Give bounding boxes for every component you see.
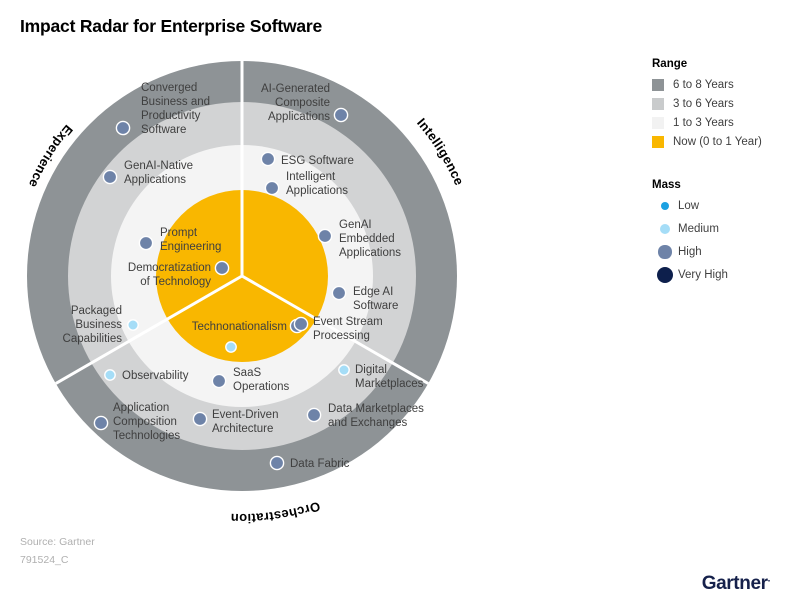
legend-mass-item: Medium: [652, 221, 788, 237]
legend-range-swatch: [652, 136, 664, 148]
node-label-line: Embedded: [339, 233, 395, 245]
source-note: Source: Gartner 791524_C: [20, 533, 95, 569]
legend-range-label: Now (0 to 1 Year): [673, 136, 762, 148]
legend-range-label: 3 to 6 Years: [673, 98, 734, 110]
legend-mass-dot: [657, 267, 674, 284]
node-label-line: Applications: [124, 174, 186, 186]
sector-label-orchestration: Orchestration: [230, 499, 322, 526]
node-label-line: Observability: [122, 370, 189, 382]
legend-mass-label: Low: [678, 200, 699, 212]
legend-mass-item: Very High: [652, 267, 788, 283]
gartner-wordmark: Gartner: [702, 573, 768, 594]
radar-node-dot[interactable]: Edge AI Software: [332, 286, 345, 299]
node-label-line: Prompt: [160, 227, 198, 239]
legend-mass-dot: [660, 224, 670, 234]
radar-node-dot[interactable]: Event-Driven Architecture: [193, 412, 206, 425]
radar-node-dot[interactable]: Observability: [105, 370, 115, 380]
legend-mass-title: Mass: [652, 179, 788, 191]
node-label: Technonationalism: [192, 321, 287, 333]
node-label-line: Applications: [268, 111, 330, 123]
legend-mass-dot-cell: [652, 224, 678, 234]
legend: Range 6 to 8 Years3 to 6 Years1 to 3 Yea…: [652, 58, 788, 290]
legend-mass-item: High: [652, 244, 788, 260]
node-label-line: Data Marketplaces: [328, 403, 424, 415]
legend-range-block: Range 6 to 8 Years3 to 6 Years1 to 3 Yea…: [652, 58, 788, 149]
radar-node-dot[interactable]: GenAI Embedded Applications: [318, 229, 331, 242]
legend-mass-dot: [661, 202, 669, 210]
legend-mass-label: High: [678, 246, 702, 258]
node-label: Observability: [122, 370, 189, 382]
legend-range-title: Range: [652, 58, 788, 70]
impact-radar-chart: ExperienceIntelligenceOrchestration Conv…: [0, 0, 620, 540]
legend-range-swatch: [652, 117, 664, 129]
sector-label-text: Orchestration: [230, 499, 322, 526]
node-label-line: Technologies: [113, 430, 180, 442]
radar-node-dot[interactable]: Intelligent Applications: [265, 181, 278, 194]
node-label-line: Composite: [275, 97, 330, 109]
node-label-line: Data Fabric: [290, 458, 350, 470]
radar-node-dot[interactable]: Democratization of Technology: [215, 261, 228, 274]
legend-range-swatch: [652, 79, 664, 91]
node-label-line: Event Stream: [313, 316, 383, 328]
radar-node-dot[interactable]: Data Marketplaces and Exchanges: [307, 408, 320, 421]
legend-range-item: Now (0 to 1 Year): [652, 134, 788, 149]
legend-mass-dot-cell: [652, 267, 678, 284]
node-label-line: GenAI-Native: [124, 160, 193, 172]
node-label-line: of Technology: [140, 276, 211, 288]
node-label: Data Fabric: [290, 458, 350, 470]
radar-node-dot[interactable]: SaaS Operations: [212, 374, 225, 387]
node-label-line: Digital: [355, 364, 387, 376]
radar-node-dot[interactable]: Data Fabric: [270, 456, 283, 469]
node-label-line: Architecture: [212, 423, 273, 435]
legend-range-item: 6 to 8 Years: [652, 77, 788, 92]
node-label-line: ESG Software: [281, 155, 354, 167]
legend-range-swatch: [652, 98, 664, 110]
node-label-line: Converged: [141, 82, 197, 94]
legend-range-item: 3 to 6 Years: [652, 96, 788, 111]
radar-node-dot[interactable]: ESG Software: [261, 152, 274, 165]
radar-node-dot[interactable]: Packaged Business Capabilities: [128, 320, 138, 330]
radar-node-dot[interactable]: GenAI-Native Applications: [103, 170, 116, 183]
legend-range-label: 6 to 8 Years: [673, 79, 734, 91]
node-label-line: GenAI: [339, 219, 372, 231]
legend-mass-dot: [658, 245, 671, 258]
node-label-line: Business: [75, 319, 122, 331]
legend-mass-label: Medium: [678, 223, 719, 235]
radar-node-dot[interactable]: Event Stream Processing: [294, 317, 307, 330]
radar-node-dot[interactable]: Converged Business and Productivity Soft…: [116, 121, 129, 134]
legend-mass-rows: LowMediumHighVery High: [652, 198, 788, 283]
legend-mass-dot-cell: [652, 202, 678, 210]
radar-node-dot[interactable]: Digital Marketplaces: [339, 365, 349, 375]
node-label-line: Capabilities: [63, 333, 123, 345]
radar-svg: ExperienceIntelligenceOrchestration Conv…: [0, 0, 620, 540]
node-label: ESG Software: [281, 155, 354, 167]
node-label-line: Operations: [233, 381, 290, 393]
legend-range-rows: 6 to 8 Years3 to 6 Years1 to 3 YearsNow …: [652, 77, 788, 149]
node-label-line: Application: [113, 402, 169, 414]
node-label-line: Technonationalism: [192, 321, 287, 333]
node-label-line: Democratization: [128, 262, 211, 274]
node-label-line: Productivity: [141, 110, 201, 122]
node-label-line: Applications: [339, 247, 401, 259]
node-label-line: Packaged: [71, 305, 122, 317]
node-label-line: Edge AI: [353, 286, 393, 298]
node-label-line: Applications: [286, 185, 348, 197]
node-label-line: Composition: [113, 416, 177, 428]
node-label-line: Software: [353, 300, 398, 312]
legend-mass-dot-cell: [652, 245, 678, 258]
node-label-line: Marketplaces: [355, 378, 424, 390]
node-label-line: Processing: [313, 330, 370, 342]
radar-node-dot[interactable]: Technonationalism Medium Node: [226, 342, 236, 352]
gartner-logo: Gartner.: [702, 573, 770, 595]
node-label-line: Business and: [141, 96, 210, 108]
doc-id-line: 791524_C: [20, 551, 95, 569]
node-label-line: SaaS: [233, 367, 261, 379]
radar-node-dot[interactable]: AI-Generated Composite Applications: [334, 108, 347, 121]
legend-mass-block: Mass LowMediumHighVery High: [652, 179, 788, 283]
node-label-line: Intelligent: [286, 171, 336, 183]
legend-mass-item: Low: [652, 198, 788, 214]
legend-mass-label: Very High: [678, 269, 728, 281]
gartner-trademark: .: [768, 574, 770, 585]
legend-range-item: 1 to 3 Years: [652, 115, 788, 130]
node-label-line: Engineering: [160, 241, 221, 253]
radar-node-dot[interactable]: Application Composition Technologies: [94, 416, 107, 429]
node-label-line: AI-Generated: [261, 83, 330, 95]
node-label-line: Software: [141, 124, 186, 136]
radar-node-dot[interactable]: Prompt Engineering: [139, 236, 152, 249]
node-label-line: Event-Driven: [212, 409, 278, 421]
node-label-line: and Exchanges: [328, 417, 408, 429]
legend-range-label: 1 to 3 Years: [673, 117, 734, 129]
source-line: Source: Gartner: [20, 533, 95, 551]
